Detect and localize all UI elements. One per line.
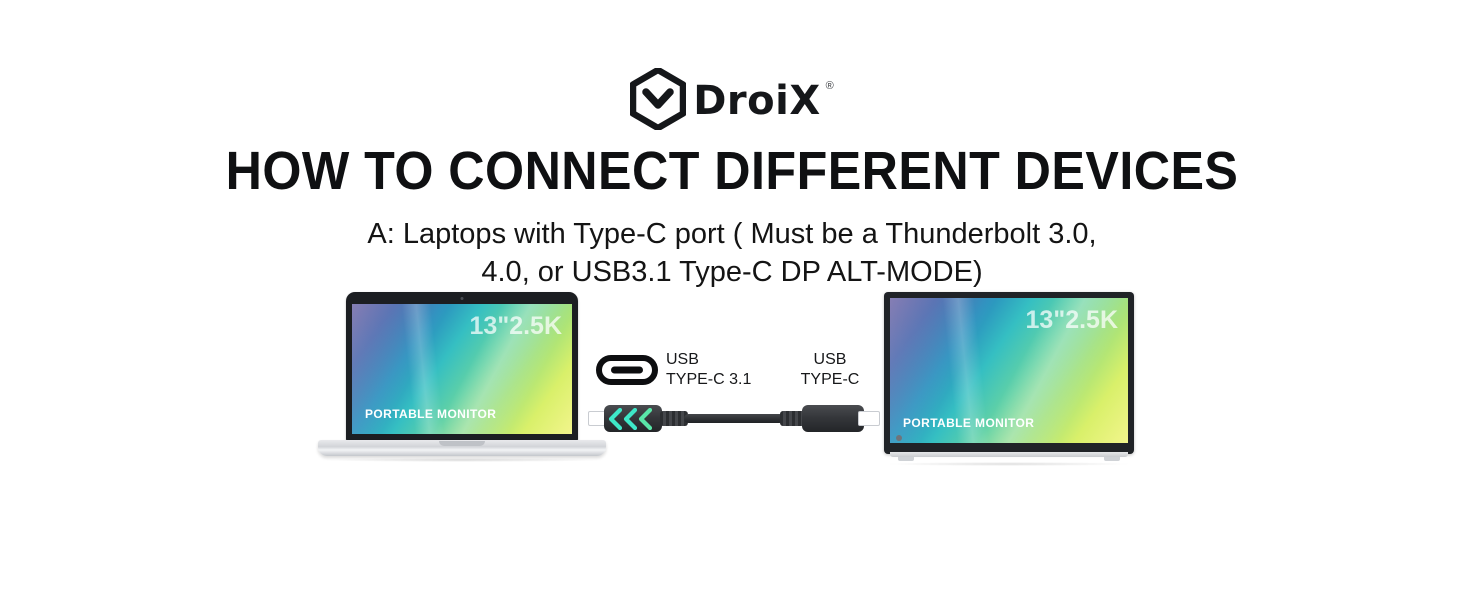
page-title: HOW TO CONNECT DIFFERENT DEVICES — [51, 140, 1413, 202]
usb-type-c-cable — [588, 400, 880, 436]
usb-type-c-callout-left-text: USB TYPE-C 3.1 — [666, 350, 751, 389]
monitor-frame: 13"2.5K PORTABLE MONITOR — [884, 292, 1134, 454]
cable-wire — [684, 414, 784, 423]
cable-tip-right — [858, 411, 880, 426]
monitor-screen: 13"2.5K PORTABLE MONITOR — [890, 298, 1128, 443]
laptop-device: 13"2.5K PORTABLE MONITOR — [318, 282, 606, 464]
device-diagram: 13"2.5K PORTABLE MONITOR USB TYPE-C 3.1 … — [0, 282, 1464, 482]
monitor-foot-left — [898, 457, 914, 461]
monitor-screen-resolution-label: 13"2.5K — [1026, 306, 1118, 335]
monitor-screen-brand-label: PORTABLE MONITOR — [903, 416, 1034, 430]
laptop-screen-brand-label: PORTABLE MONITOR — [365, 407, 496, 421]
usb-label-line-1: USB — [666, 351, 699, 368]
laptop-trackpad-notch — [439, 441, 485, 446]
laptop-screen-resolution-label: 13"2.5K — [470, 312, 562, 341]
brand-logo: DroiX ® — [0, 68, 1464, 130]
usb-label-line-2: TYPE-C — [801, 371, 860, 388]
monitor-stand — [890, 452, 1128, 457]
usb-label-line-2: TYPE-C 3.1 — [666, 371, 751, 388]
monitor-power-indicator-icon — [896, 435, 902, 441]
usb-type-c-callout-left: USB TYPE-C 3.1 — [596, 350, 751, 389]
usb-type-c-callout-right: USB TYPE-C — [775, 350, 885, 389]
registered-trademark-symbol: ® — [826, 80, 834, 92]
portable-monitor-device: 13"2.5K PORTABLE MONITOR — [884, 292, 1134, 464]
laptop-lid: 13"2.5K PORTABLE MONITOR — [346, 292, 578, 442]
laptop-ground-shadow — [328, 458, 596, 462]
hexagon-chevron-logo-icon — [630, 68, 686, 130]
laptop-base — [318, 440, 606, 456]
usb-type-c-icon — [596, 355, 658, 385]
monitor-foot-right — [1104, 457, 1120, 461]
triple-chevron-left-icon — [608, 406, 652, 431]
usb-type-c-callout-right-text: USB TYPE-C — [801, 351, 860, 388]
laptop-screen: 13"2.5K PORTABLE MONITOR — [352, 304, 572, 434]
usb-label-line-1: USB — [814, 351, 847, 368]
brand-wordmark: DroiX — [693, 81, 820, 121]
monitor-ground-shadow — [888, 462, 1130, 466]
page-subtitle: A: Laptops with Type-C port ( Must be a … — [342, 215, 1122, 292]
laptop-camera-icon — [461, 297, 464, 300]
cable-plug-right — [802, 405, 864, 432]
